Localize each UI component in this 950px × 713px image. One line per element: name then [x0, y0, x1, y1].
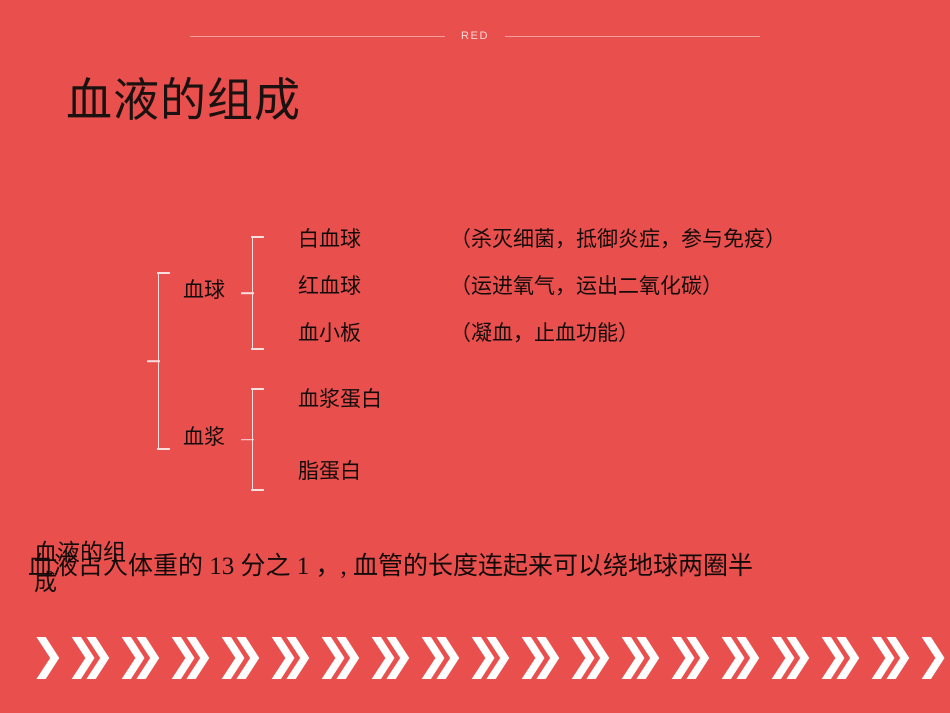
chevron-icon: ❯❯ — [430, 634, 480, 676]
chevron-icon: ❯❯ — [80, 634, 130, 676]
chevron-icon: ❯❯ — [530, 634, 580, 676]
bracket-blood-cells — [252, 236, 253, 350]
leaf-name-plasma-protein: 血浆蛋白 — [298, 386, 382, 413]
chevron-icon: ❯❯ — [680, 634, 730, 676]
page-title: 血液的组成 — [66, 75, 301, 128]
leaf-desc-white-blood-cell: （杀灭细菌，抵御炎症，参与免疫） — [450, 226, 786, 253]
header-rule-left — [190, 36, 445, 37]
branch-label-plasma: 血浆 — [183, 424, 225, 450]
bracket-root — [158, 272, 159, 450]
leaf-desc-platelet: （凝血，止血功能） — [450, 320, 639, 347]
chevron-icon: ❯❯ — [880, 634, 930, 676]
chevron-icon: ❯❯ — [480, 634, 530, 676]
chevron-icon: ❯❯ — [830, 634, 880, 676]
slide-header: RED — [0, 26, 950, 46]
chevron-icon: ❯❯ — [730, 634, 780, 676]
blood-composition-diagram: 血液的组成 血球 血浆 白血球 红血球 血小板 血浆蛋白 脂蛋白 （杀灭细菌，抵… — [0, 218, 950, 508]
chevron-icon: ❯❯ — [30, 634, 80, 676]
chevron-icon: ❯❯ — [330, 634, 380, 676]
leaf-name-platelet: 血小板 — [298, 320, 382, 347]
bracket-root-tick — [147, 360, 160, 362]
leaf-name-red-blood-cell: 红血球 — [298, 273, 382, 300]
chevron-icon: ❯❯ — [780, 634, 830, 676]
chevron-icon: ❯❯ — [630, 634, 680, 676]
leaf-name-white-blood-cell: 白血球 — [298, 226, 382, 253]
bracket-blood-cells-tick — [241, 292, 254, 294]
chevron-icon: ❯❯ — [580, 634, 630, 676]
leaf-desc-red-blood-cell: （运进氧气，运出二氧化碳） — [450, 273, 723, 300]
chevron-icon: ❯❯ — [380, 634, 430, 676]
bottom-note: 血液占人体重的 13 分之 1 ，, 血管的长度连起来可以绕地球两圈半 — [28, 550, 928, 583]
bracket-plasma — [252, 388, 253, 491]
leaf-name-lipoprotein: 脂蛋白 — [298, 458, 382, 485]
chevron-icon: ❯❯ — [180, 634, 230, 676]
chevron-icon: ❯❯ — [280, 634, 330, 676]
chevron-icon: ❯❯ — [130, 634, 180, 676]
header-label: RED — [445, 31, 505, 42]
branch-label-blood-cells: 血球 — [183, 277, 225, 303]
chevron-icon: ❯❯ — [230, 634, 280, 676]
header-rule-right — [505, 36, 760, 37]
bracket-plasma-tick — [241, 439, 254, 441]
chevron-strip: ❯❯❯❯❯❯❯❯❯❯❯❯❯❯❯❯❯❯❯❯❯❯❯❯❯❯❯❯❯❯❯❯❯❯❯❯ — [0, 630, 950, 680]
